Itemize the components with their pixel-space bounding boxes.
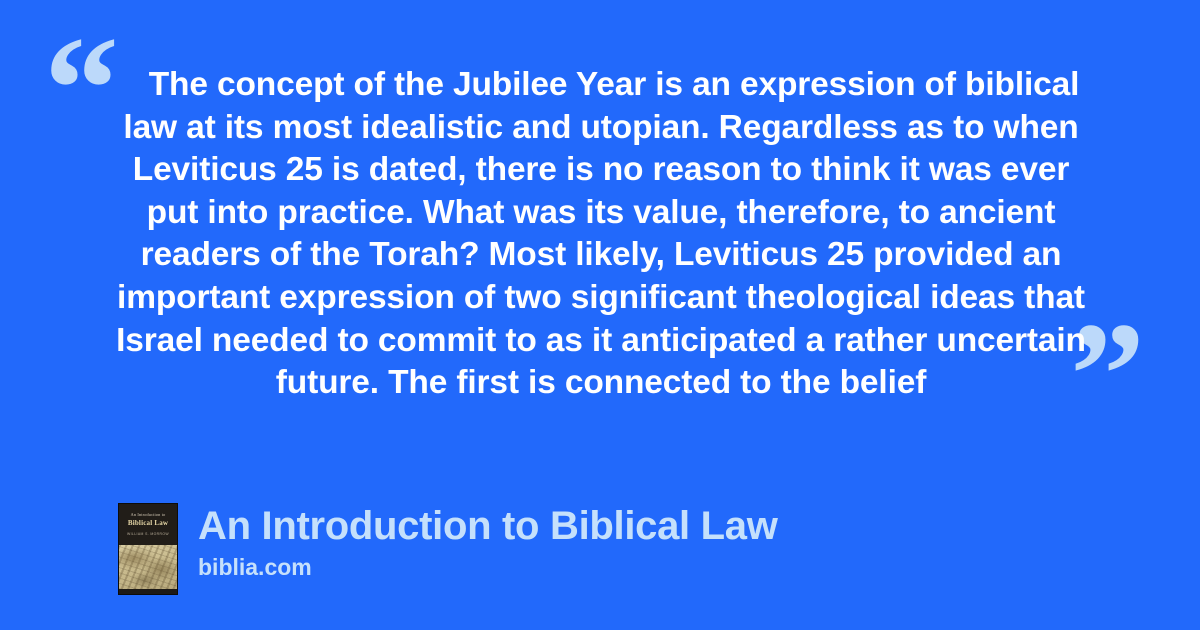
quote-share-card: “ ” The concept of the Jubilee Year is a… bbox=[0, 0, 1200, 630]
book-title[interactable]: An Introduction to Biblical Law bbox=[198, 503, 778, 549]
book-cover-footer-band bbox=[119, 589, 177, 594]
book-cover-title-area: An Introduction to Biblical Law WILLIAM … bbox=[119, 504, 177, 545]
book-cover-subtitle: An Introduction to bbox=[131, 512, 166, 517]
book-cover-author: WILLIAM S. MORROW bbox=[127, 532, 169, 536]
quote-text-block: The concept of the Jubilee Year is an ex… bbox=[112, 64, 1090, 405]
attribution-footer: An Introduction to Biblical Law WILLIAM … bbox=[118, 503, 778, 595]
book-cover-artwork bbox=[119, 545, 177, 589]
site-name[interactable]: biblia.com bbox=[198, 553, 778, 581]
book-cover-thumbnail[interactable]: An Introduction to Biblical Law WILLIAM … bbox=[118, 503, 178, 595]
attribution-text-block: An Introduction to Biblical Law biblia.c… bbox=[198, 503, 778, 581]
open-quote-icon: “ bbox=[44, 14, 119, 164]
book-cover-title: Biblical Law bbox=[128, 519, 168, 527]
quote-text: The concept of the Jubilee Year is an ex… bbox=[112, 64, 1090, 405]
